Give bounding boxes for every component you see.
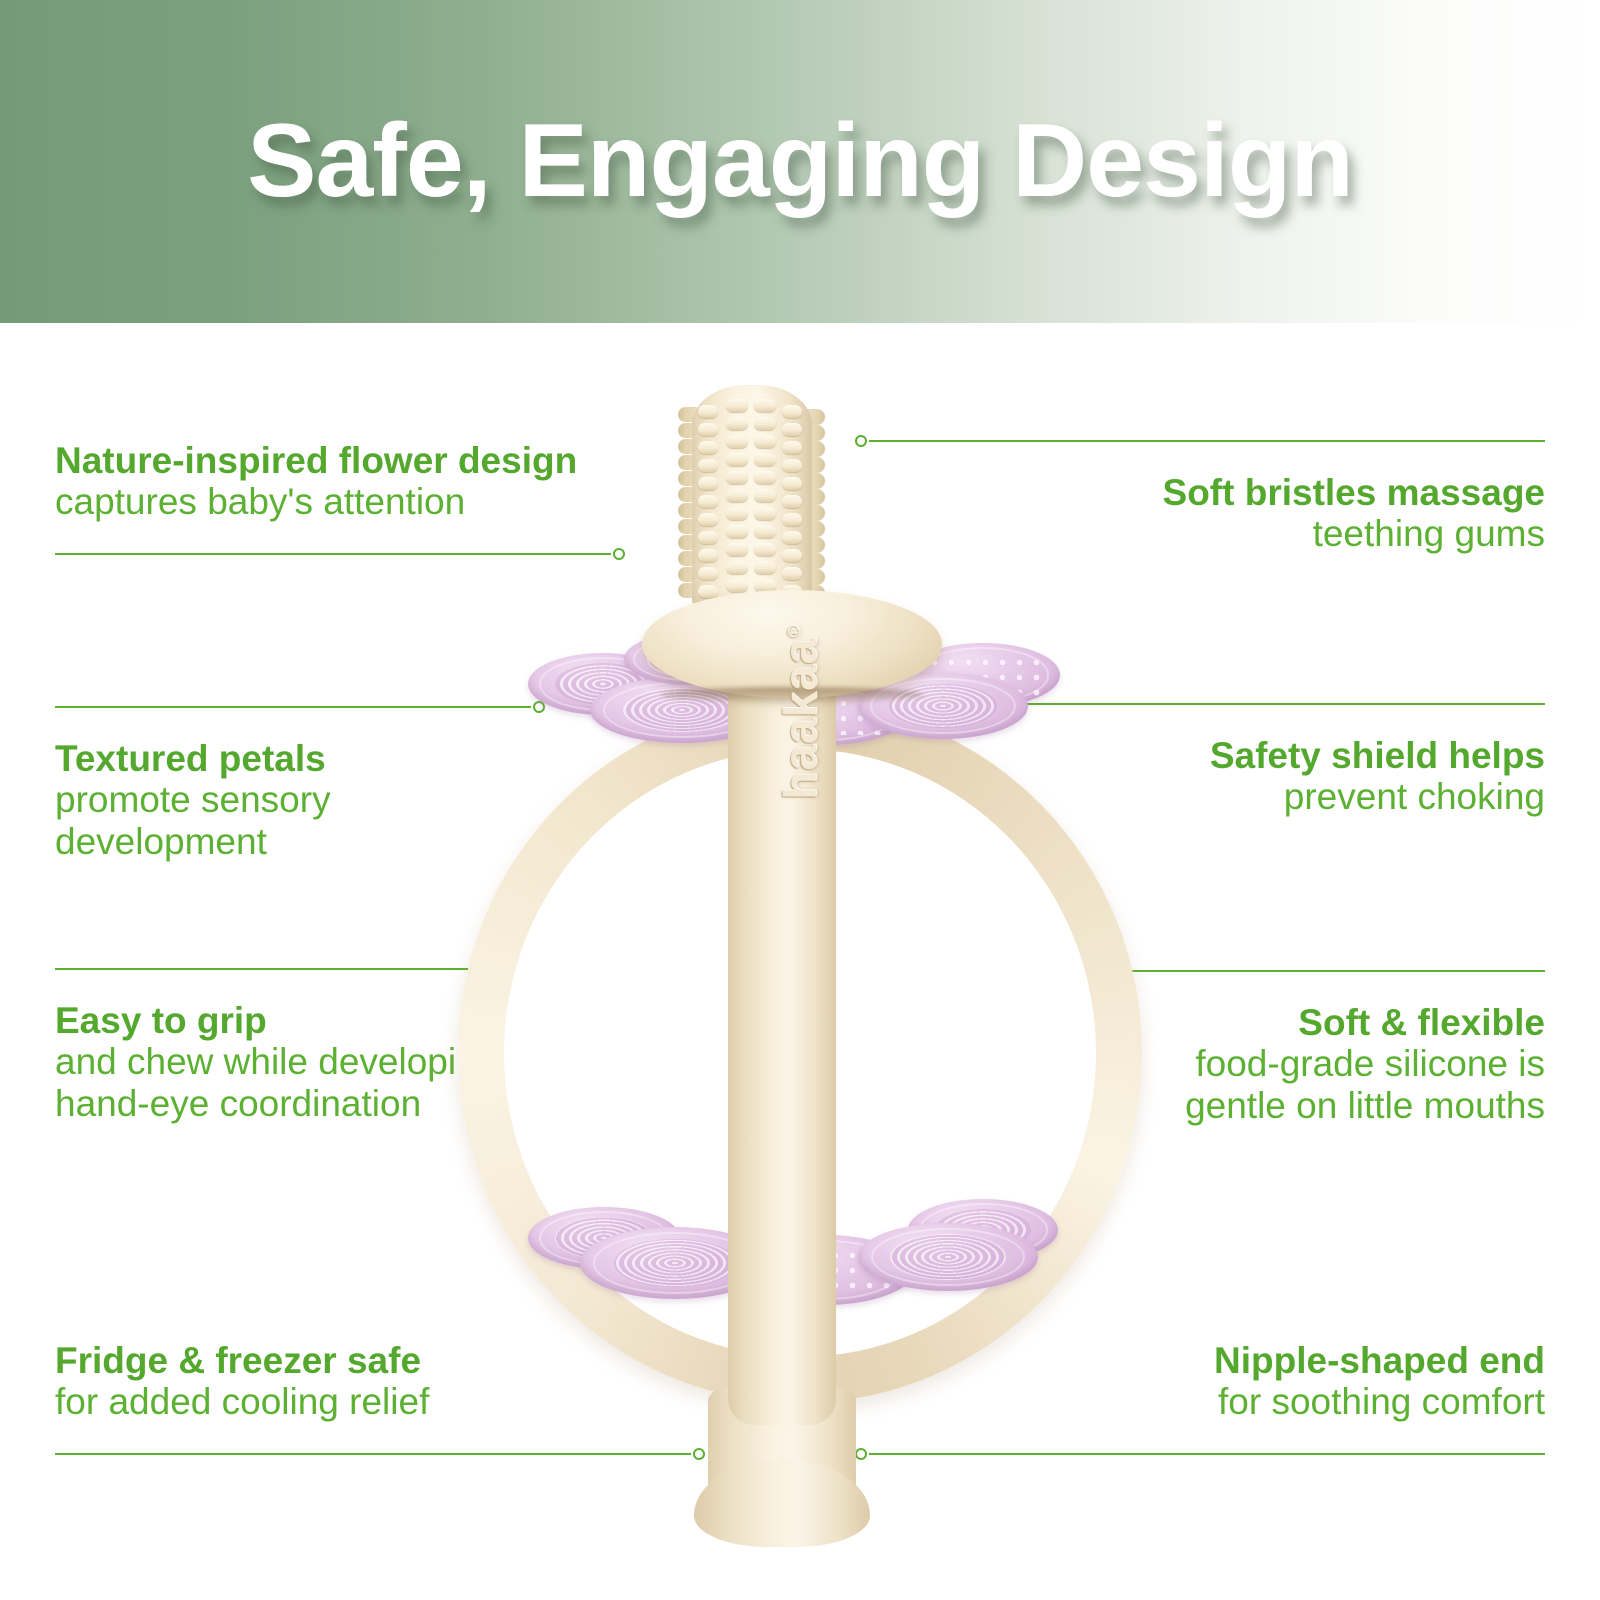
bristle-massage-head — [692, 385, 812, 610]
bristle-bump — [698, 549, 718, 562]
page-title: Safe, Engaging Design — [0, 0, 1600, 323]
bristle-bump — [726, 579, 748, 592]
bristle-bump — [726, 435, 748, 448]
bristle-bump — [698, 567, 718, 580]
callout-body: for added cooling relief — [55, 1381, 705, 1422]
bristle-bump — [754, 399, 776, 412]
callout-body: promote sensory development — [55, 779, 545, 862]
petal — [858, 1223, 1038, 1291]
callout-heading: Nature-inspired flower design — [55, 440, 625, 481]
bristle-bump — [754, 417, 776, 430]
bristle-bump — [782, 531, 802, 544]
bristle-bump — [726, 399, 748, 412]
connector-dot — [613, 548, 625, 560]
center-stem — [728, 685, 836, 1425]
bristle-bump — [782, 441, 802, 454]
bristle-bump — [782, 477, 802, 490]
safety-shield-disc — [642, 590, 942, 698]
connector-line — [855, 432, 1545, 450]
bristle-bump — [726, 453, 748, 466]
callout-heading: Easy to grip — [55, 1000, 505, 1041]
callout-body: captures baby's attention — [55, 481, 625, 522]
bristle-bump — [726, 525, 748, 538]
connector-line — [855, 1445, 1545, 1463]
bristle-bump — [726, 543, 748, 556]
callout-body: for soothing comfort — [855, 1381, 1545, 1422]
callout-text: Soft bristles massage teething gums — [855, 472, 1545, 555]
callout-safety-shield: Safety shield helps prevent choking — [1005, 695, 1545, 818]
bristle-bump — [782, 405, 802, 418]
callout-text: Fridge & freezer safe for added cooling … — [55, 1340, 705, 1423]
callout-text: Soft & flexible food-grade silicone is g… — [1085, 1002, 1545, 1126]
callout-easy-to-grip: Easy to grip and chew while developing h… — [55, 960, 505, 1124]
connector-dot — [855, 1448, 867, 1460]
bristle-bump — [698, 513, 718, 526]
bristle-bump — [754, 435, 776, 448]
bristle-bump — [698, 405, 718, 418]
callout-text: Textured petals promote sensory developm… — [55, 738, 545, 862]
bristle-bump — [782, 495, 802, 508]
connector-bar — [869, 1453, 1545, 1455]
connector-bar — [55, 1453, 691, 1455]
callout-body: and chew while developing hand-eye coord… — [55, 1041, 505, 1124]
bristle-bump — [754, 489, 776, 502]
bristle-bump — [698, 441, 718, 454]
callout-heading: Fridge & freezer safe — [55, 1340, 705, 1381]
connector-line — [55, 545, 625, 563]
bristle-bump — [726, 489, 748, 502]
callout-heading: Soft & flexible — [1085, 1002, 1545, 1043]
bristle-bump — [782, 513, 802, 526]
bristle-bump — [782, 567, 802, 580]
bristle-bump — [754, 543, 776, 556]
callout-soft-bristles: Soft bristles massage teething gums — [855, 432, 1545, 555]
bristle-bump — [782, 423, 802, 436]
bristle-bump — [754, 453, 776, 466]
connector-bar — [1099, 970, 1545, 972]
connector-bar — [55, 553, 611, 555]
connector-line — [55, 1445, 705, 1463]
bristle-bump — [754, 561, 776, 574]
bristle-bump — [754, 507, 776, 520]
callout-body: prevent choking — [1005, 776, 1545, 817]
callout-fridge-freezer-safe: Fridge & freezer safe for added cooling … — [55, 1340, 705, 1463]
callout-soft-flexible: Soft & flexible food-grade silicone is g… — [1085, 962, 1545, 1126]
bristle-bump — [754, 471, 776, 484]
callout-text: Nature-inspired flower design captures b… — [55, 440, 625, 523]
bristle-bump — [726, 561, 748, 574]
callout-heading: Soft bristles massage — [855, 472, 1545, 513]
connector-bar — [1019, 703, 1545, 705]
bristle-bump — [698, 477, 718, 490]
callout-textured-petals: Textured petals promote sensory developm… — [55, 698, 545, 862]
bristle-bump — [698, 495, 718, 508]
connector-bar — [55, 706, 531, 708]
connector-bar — [869, 440, 1545, 442]
bristle-bump — [698, 585, 718, 598]
callout-heading: Safety shield helps — [1005, 735, 1545, 776]
bristle-bump — [754, 525, 776, 538]
bristle-bump — [782, 459, 802, 472]
connector-line — [55, 698, 545, 716]
bristle-bump — [698, 423, 718, 436]
connector-line — [1085, 962, 1545, 980]
callout-body: food-grade silicone is gentle on little … — [1085, 1043, 1545, 1126]
connector-bar — [55, 968, 491, 970]
connector-line — [55, 960, 505, 978]
callout-body: teething gums — [855, 513, 1545, 554]
connector-line — [1005, 695, 1545, 713]
connector-dot — [693, 1448, 705, 1460]
connector-dot — [855, 435, 867, 447]
bristle-bump — [782, 549, 802, 562]
bristle-bump — [698, 531, 718, 544]
callout-text: Safety shield helps prevent choking — [1005, 735, 1545, 818]
bristle-bump — [726, 507, 748, 520]
callout-heading: Textured petals — [55, 738, 545, 779]
infographic-page: Safe, Engaging Design haakaa® — [0, 0, 1600, 1600]
callout-text: Easy to grip and chew while developing h… — [55, 1000, 505, 1124]
bristle-bump — [726, 471, 748, 484]
callout-nature-inspired: Nature-inspired flower design captures b… — [55, 440, 625, 563]
bristle-bump — [726, 417, 748, 430]
bristle-bump — [698, 459, 718, 472]
